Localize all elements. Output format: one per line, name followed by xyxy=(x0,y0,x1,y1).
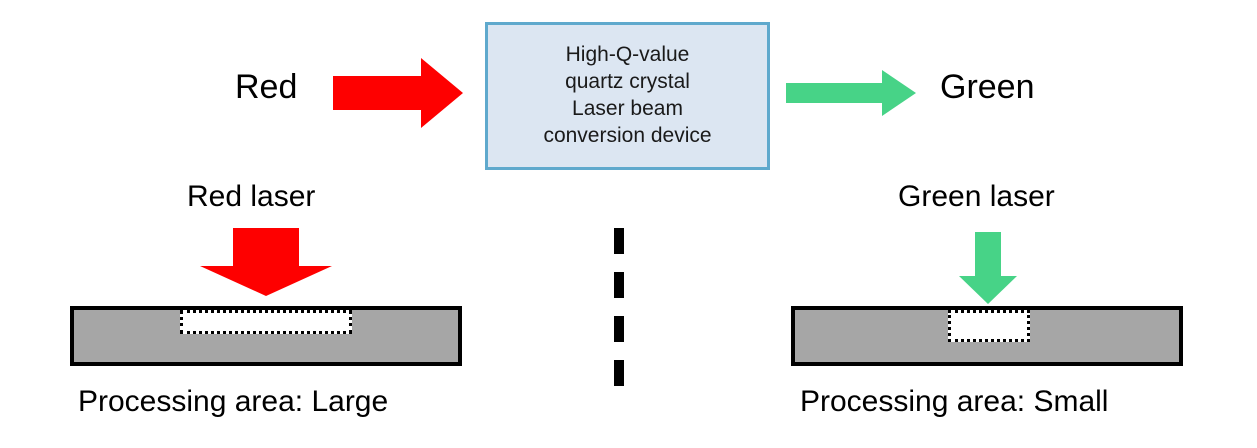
divider-dash xyxy=(614,316,624,342)
divider-dash xyxy=(614,228,624,254)
left-beam-label: Red laser xyxy=(187,180,315,214)
device-box-text: High-Q-value quartz crystal Laser beam c… xyxy=(543,42,711,150)
device-box: High-Q-value quartz crystal Laser beam c… xyxy=(485,22,770,170)
divider-dash xyxy=(614,272,624,298)
divider-dash xyxy=(614,360,624,386)
right-beam-label: Green laser xyxy=(898,180,1055,214)
output-label-green: Green xyxy=(940,68,1035,107)
processing-area-notch-left xyxy=(180,310,352,334)
input-label-red: Red xyxy=(235,68,297,107)
left-caption: Processing area: Large xyxy=(78,385,388,419)
processing-area-notch-right xyxy=(948,310,1030,342)
vertical-dashed-divider xyxy=(614,228,624,384)
green-down-arrow-icon xyxy=(959,232,1017,304)
green-right-arrow-icon xyxy=(786,70,916,116)
red-down-arrow-icon xyxy=(200,228,332,296)
right-caption: Processing area: Small xyxy=(800,385,1108,419)
diagram-canvas: High-Q-value quartz crystal Laser beam c… xyxy=(0,0,1257,448)
red-right-arrow-icon xyxy=(333,58,463,128)
